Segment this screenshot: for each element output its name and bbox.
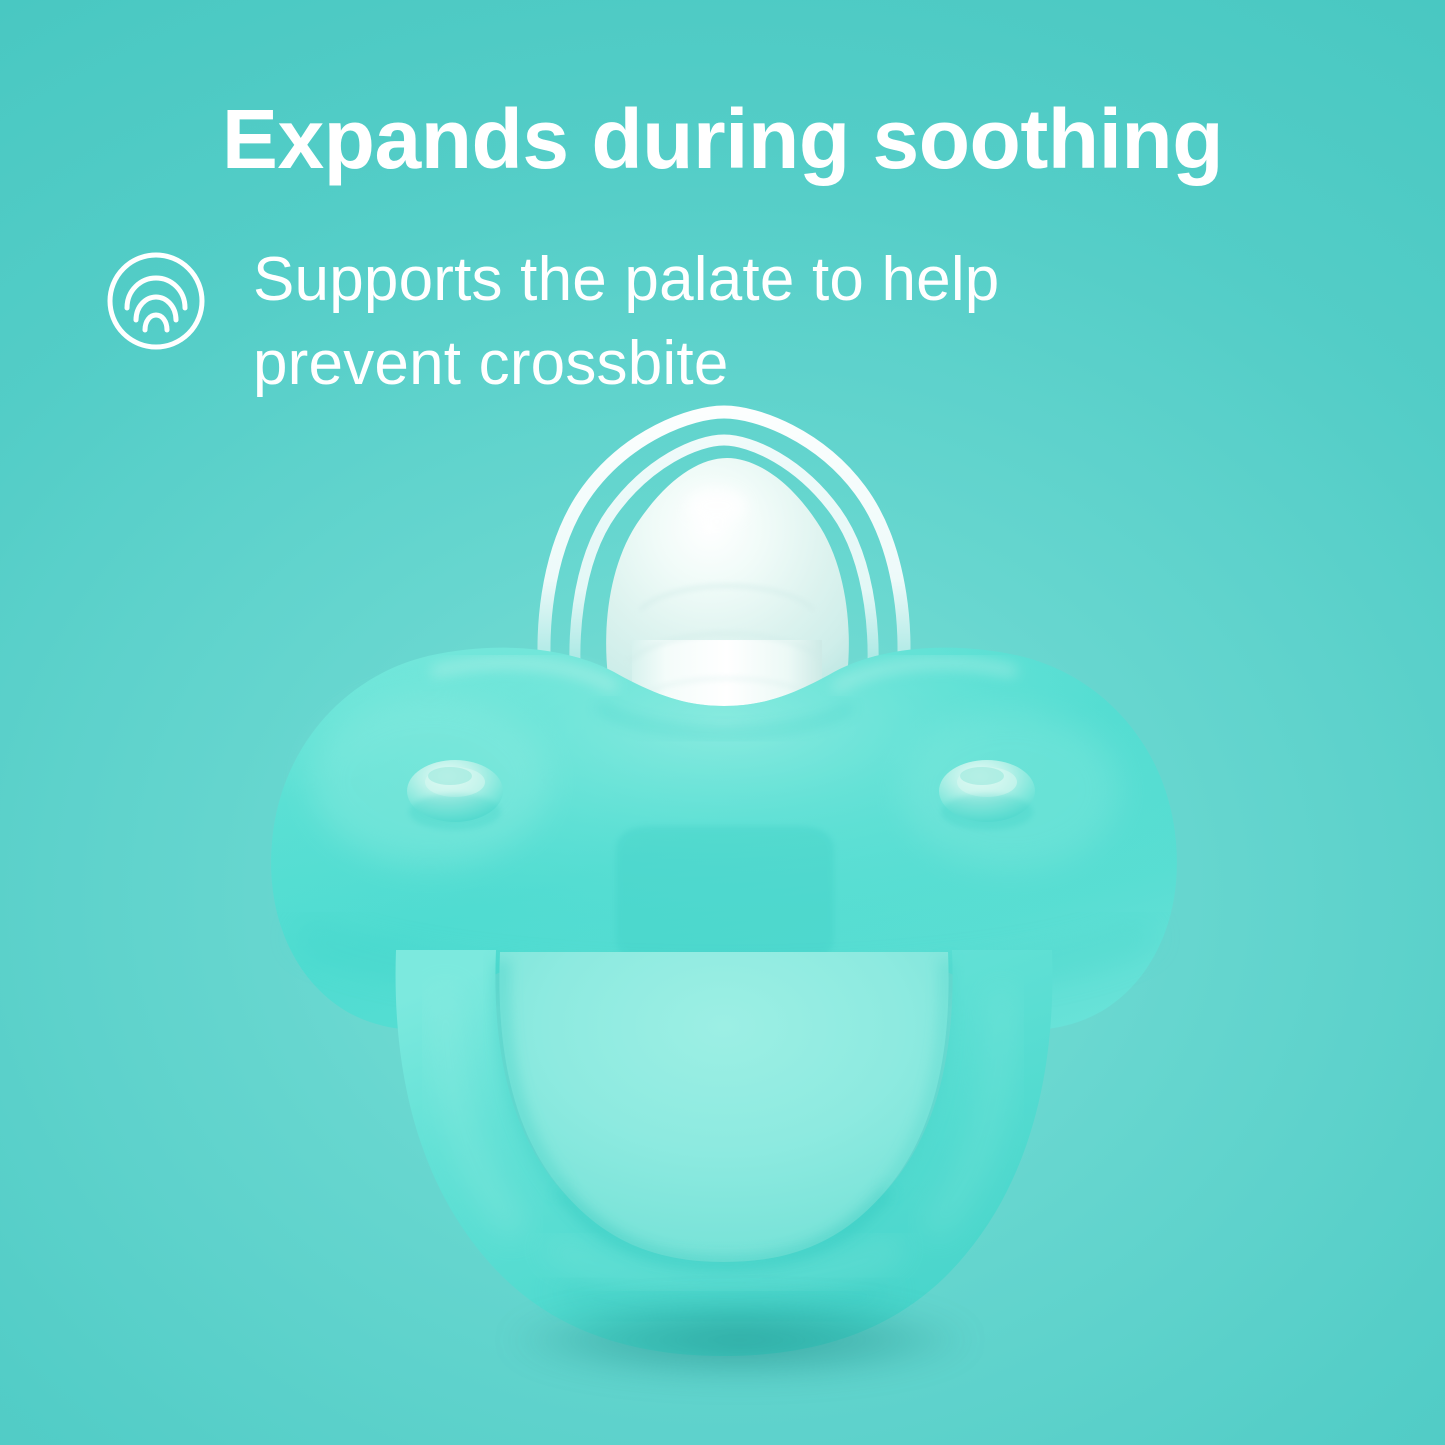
product-image bbox=[0, 0, 1445, 1445]
pacifier-illustration bbox=[0, 0, 1445, 1445]
air-hole-left bbox=[407, 760, 503, 830]
air-hole-right bbox=[939, 760, 1035, 830]
floor-shadow bbox=[430, 1286, 1050, 1394]
product-feature-card: Expands during soothing Supports the pal… bbox=[0, 0, 1445, 1445]
